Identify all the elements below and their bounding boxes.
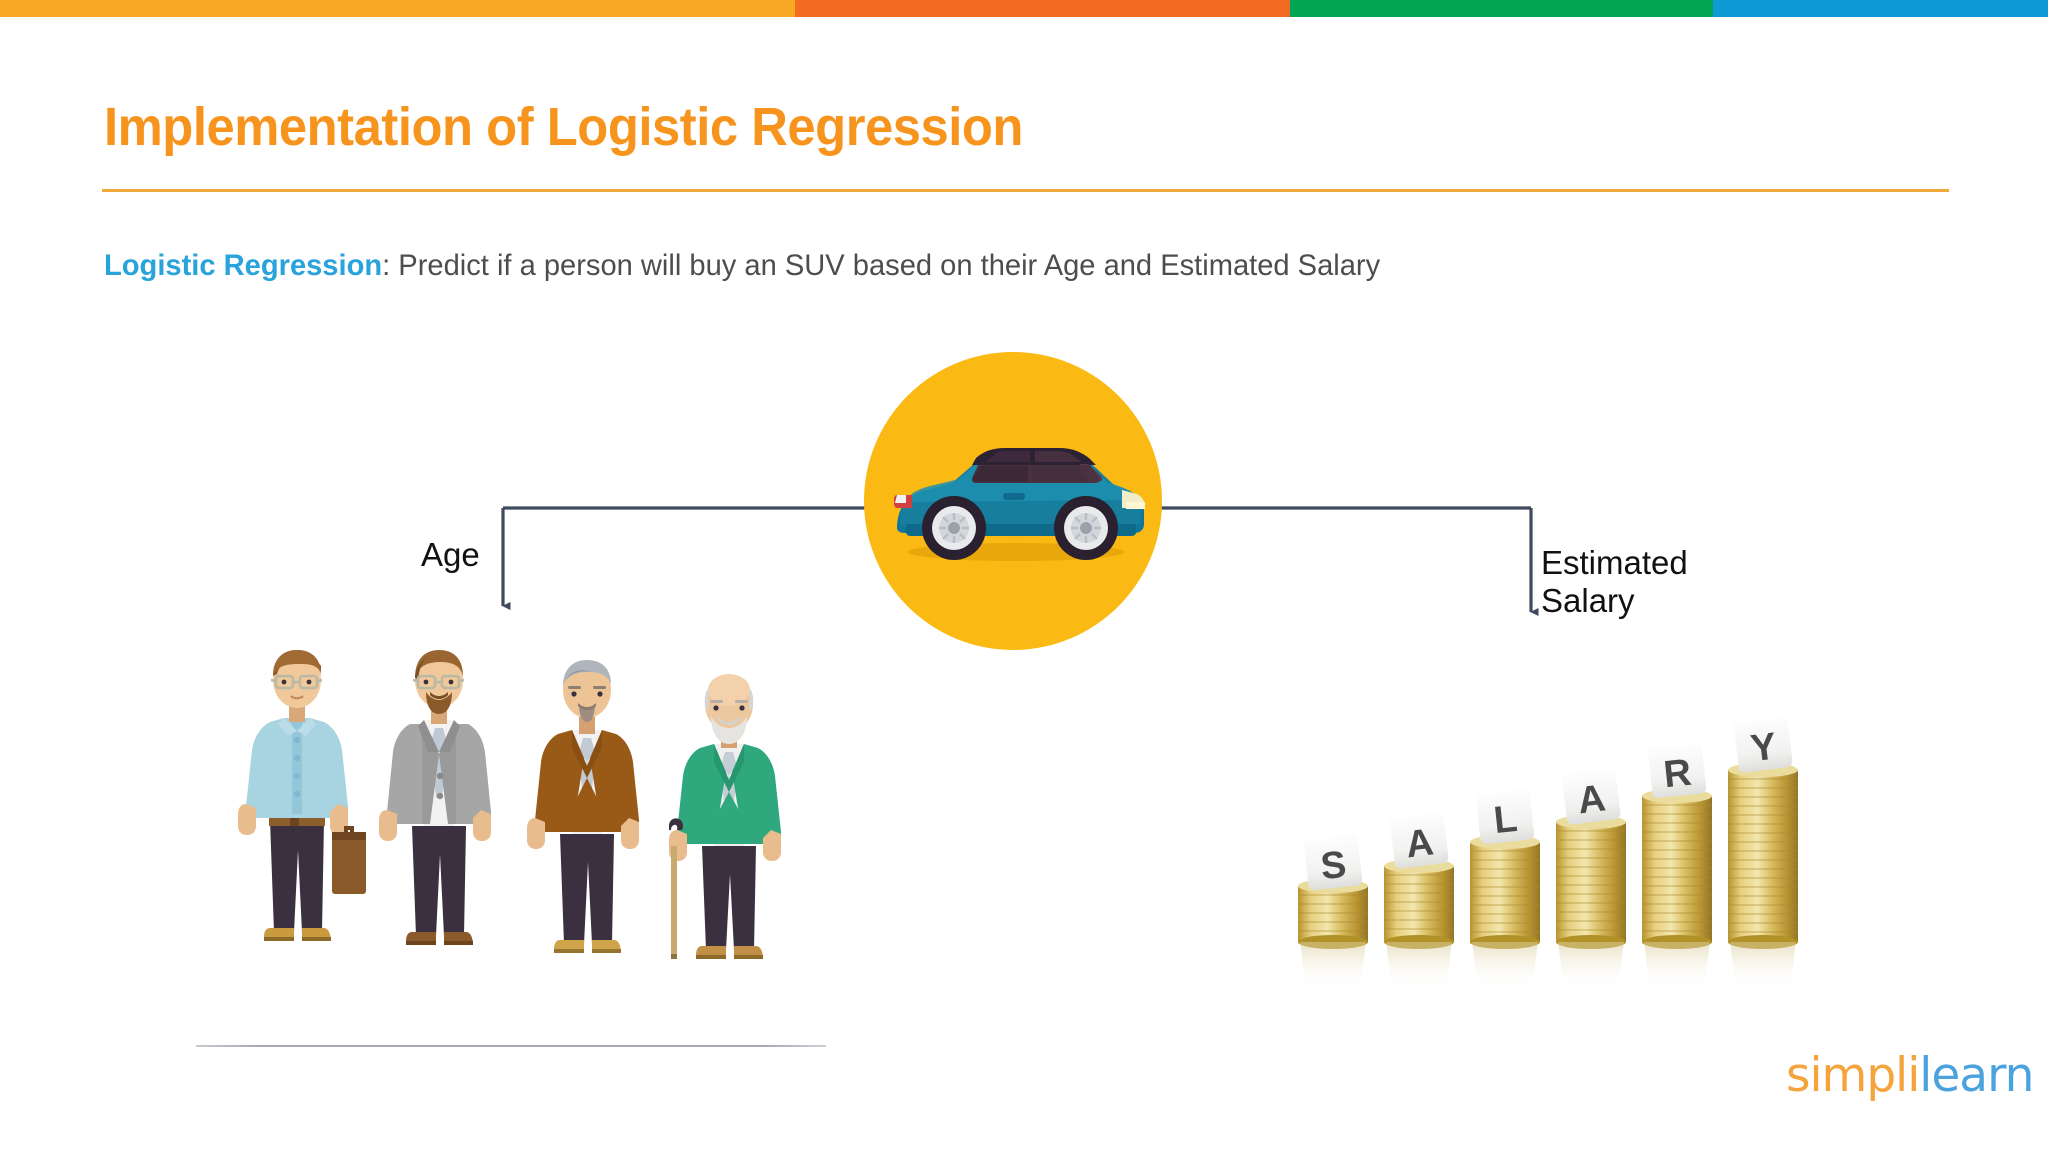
- page-title: Implementation of Logistic Regression: [104, 96, 1023, 158]
- coin-stack-5: R: [1642, 739, 1712, 990]
- coin-stack-1: S: [1298, 831, 1368, 990]
- suv-circle-badge: [864, 352, 1162, 650]
- coin-stack-3: L: [1470, 785, 1540, 990]
- people-baseline-divider: [196, 1045, 826, 1047]
- coin-stack-6: Y: [1728, 713, 1798, 990]
- simplilearn-logo: simplilearn: [1786, 1048, 2033, 1103]
- subtitle: Logistic Regression: Predict if a person…: [104, 249, 1380, 283]
- four-men-increasing-age-illustration: [232, 636, 792, 976]
- label-estimated-salary-line2: Salary: [1541, 582, 1688, 620]
- person-middle-age: [379, 650, 491, 945]
- salary-coin-stacks-photo: S A: [1280, 690, 1825, 1010]
- accent-segment-green: [1290, 0, 1713, 17]
- logo-tick-mark: i: [1907, 1048, 1919, 1103]
- slide-canvas: Implementation of Logistic Regression Lo…: [0, 0, 2048, 1152]
- logo-text-simpl: simpl: [1786, 1048, 1907, 1103]
- coin-stack-2: A: [1384, 809, 1454, 990]
- person-young: [238, 650, 366, 941]
- label-estimated-salary-line1: Estimated: [1541, 544, 1688, 582]
- logo-text-learn: learn: [1919, 1048, 2033, 1103]
- accent-segment-orange: [795, 0, 1290, 17]
- person-elderly: [669, 674, 781, 959]
- coin-stack-4: A: [1556, 765, 1626, 990]
- label-estimated-salary: Estimated Salary: [1541, 544, 1688, 621]
- person-older: [527, 660, 639, 953]
- accent-segment-blue: [1713, 0, 2048, 17]
- svg-text:R: R: [1662, 752, 1694, 797]
- subtitle-lead: Logistic Regression: [104, 249, 382, 282]
- accent-segment-amber: [0, 0, 795, 17]
- title-divider: [102, 189, 1949, 192]
- subtitle-rest: : Predict if a person will buy an SUV ba…: [382, 249, 1380, 282]
- svg-text:A: A: [1403, 821, 1435, 866]
- suv-car-icon: [864, 352, 1162, 650]
- svg-text:S: S: [1319, 844, 1349, 888]
- svg-text:L: L: [1492, 798, 1519, 842]
- svg-text:Y: Y: [1748, 726, 1778, 771]
- top-accent-bar: [0, 0, 2048, 17]
- svg-text:A: A: [1575, 777, 1607, 822]
- label-age: Age: [421, 538, 480, 571]
